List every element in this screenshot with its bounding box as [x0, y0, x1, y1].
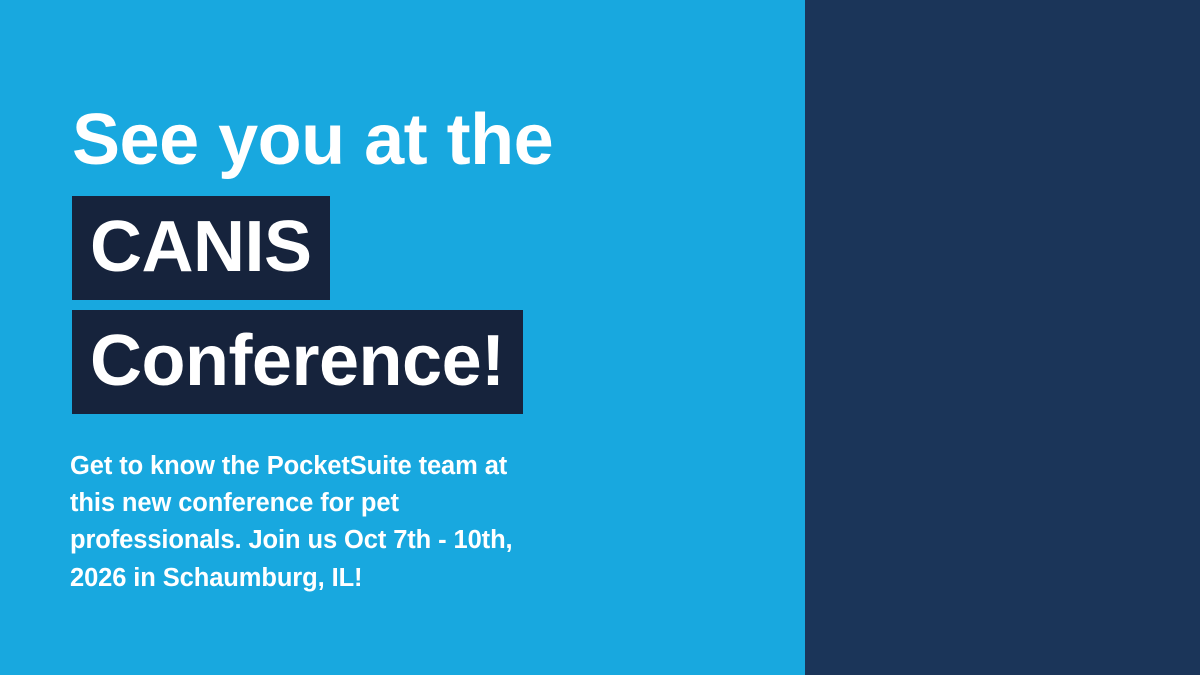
headline-line-2: CANIS: [72, 196, 330, 300]
headline-block: See you at the CANIS Conference!: [72, 104, 772, 424]
headline-line-2-row: CANIS: [72, 196, 772, 300]
headline-line-3-row: Conference!: [72, 310, 772, 414]
right-navy-panel: C NIS CONFERENCE CANINE ADVOCACY NETWORK…: [805, 0, 1200, 675]
promo-graphic-canvas: See you at the CANIS Conference! Get to …: [0, 0, 1200, 675]
headline-line-3: Conference!: [72, 310, 523, 414]
headline-line-1: See you at the: [72, 104, 772, 176]
body-copy: Get to know the PocketSuite team at this…: [70, 448, 540, 597]
left-blue-panel: See you at the CANIS Conference! Get to …: [0, 0, 805, 675]
